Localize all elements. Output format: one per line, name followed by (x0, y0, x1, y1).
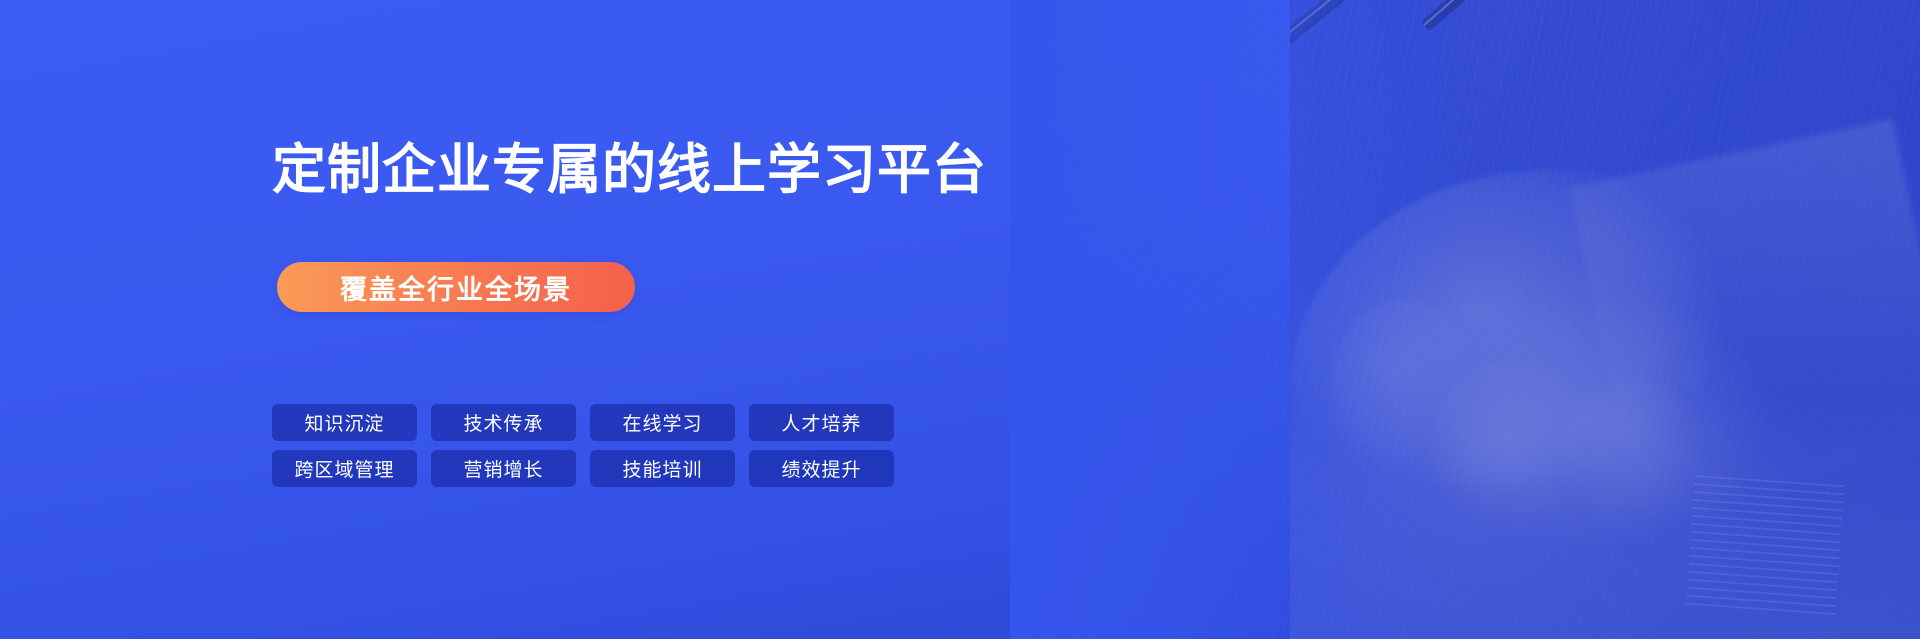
banner-content: 定制企业专属的线上学习平台 覆盖全行业全场景 知识沉淀 技术传承 在线学习 人才… (272, 0, 1172, 639)
hero-banner: 定制企业专属的线上学习平台 覆盖全行业全场景 知识沉淀 技术传承 在线学习 人才… (0, 0, 1920, 639)
tag-performance-improvement[interactable]: 绩效提升 (749, 450, 894, 487)
feature-tag-grid: 知识沉淀 技术传承 在线学习 人才培养 跨区域管理 营销增长 技能培训 绩效提升 (272, 404, 894, 487)
tag-marketing-growth[interactable]: 营销增长 (431, 450, 576, 487)
tag-skill-training[interactable]: 技能培训 (590, 450, 735, 487)
page-title: 定制企业专属的线上学习平台 (272, 140, 987, 200)
tag-online-learning[interactable]: 在线学习 (590, 404, 735, 441)
coverage-cta-button[interactable]: 覆盖全行业全场景 (277, 262, 635, 312)
tag-knowledge-precipitation[interactable]: 知识沉淀 (272, 404, 417, 441)
tag-talent-development[interactable]: 人才培养 (749, 404, 894, 441)
tag-cross-region-management[interactable]: 跨区域管理 (272, 450, 417, 487)
tag-technology-inheritance[interactable]: 技术传承 (431, 404, 576, 441)
